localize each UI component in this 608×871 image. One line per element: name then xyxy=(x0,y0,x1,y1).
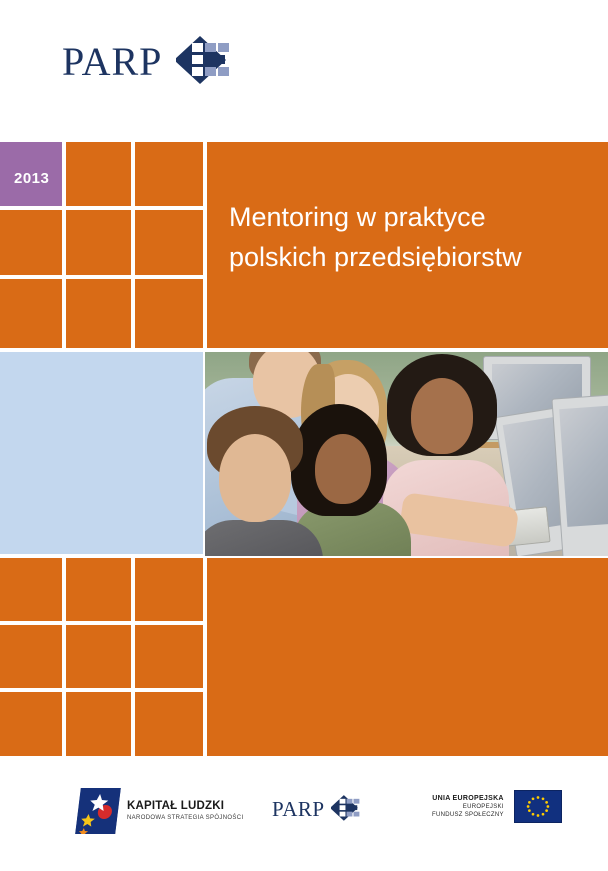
grid-cell xyxy=(135,142,203,206)
grid-cell xyxy=(135,692,203,756)
grid-cell xyxy=(0,692,62,756)
grid-cell xyxy=(66,625,131,688)
grid-cell xyxy=(66,210,131,275)
grid-cell xyxy=(135,558,203,621)
year-badge: 2013 xyxy=(0,142,62,206)
page-header: PARP xyxy=(0,0,608,136)
title-panel: Mentoring w praktyce polskich przedsiębi… xyxy=(207,142,608,348)
eu-line-2: EUROPEJSKI xyxy=(432,803,504,811)
eu-line-1: UNIA EUROPEJSKA xyxy=(432,794,504,803)
grid-block-bottom-left xyxy=(0,558,203,756)
eu-line-3: FUNDUSZ SPOŁECZNY xyxy=(432,811,504,819)
grid-cell xyxy=(135,210,203,275)
eu-text-block: UNIA EUROPEJSKA EUROPEJSKI FUNDUSZ SPOŁE… xyxy=(432,794,504,820)
parp-diamond-icon xyxy=(176,34,232,90)
grid-cell xyxy=(0,625,62,688)
kapital-ludzki-title: KAPITAŁ LUDZKI xyxy=(127,800,243,813)
eu-flag-icon xyxy=(514,790,562,823)
cover-photo xyxy=(205,352,608,556)
page-title-line-2: polskich przedsiębiorstw xyxy=(229,238,599,278)
page-title: Mentoring w praktyce polskich przedsiębi… xyxy=(229,198,599,278)
photo-scene xyxy=(205,352,608,556)
year-badge-label: 2013 xyxy=(14,170,49,187)
bottom-orange-panel xyxy=(207,558,608,756)
accent-block-blue xyxy=(0,352,203,554)
grid-cell xyxy=(66,279,131,348)
grid-cell xyxy=(0,210,62,275)
kapital-ludzki-text: KAPITAŁ LUDZKI NARODOWA STRATEGIA SPÓJNO… xyxy=(127,800,243,822)
parp-wordmark: PARP xyxy=(62,42,162,82)
grid-block-top-left: 2013 xyxy=(0,142,203,348)
logo-unia-europejska: UNIA EUROPEJSKA EUROPEJSKI FUNDUSZ SPOŁE… xyxy=(432,790,562,823)
parp-diamond-icon xyxy=(331,794,361,824)
kapital-ludzki-stars-icon xyxy=(75,788,121,834)
cover-band: 2013 Mentoring w praktyce polskich przed… xyxy=(0,136,608,762)
grid-cell xyxy=(135,279,203,348)
parp-wordmark-footer: PARP xyxy=(272,799,325,820)
grid-cell xyxy=(66,692,131,756)
kapital-ludzki-subtitle: NARODOWA STRATEGIA SPÓJNOŚCI xyxy=(127,815,243,822)
parp-logo: PARP xyxy=(62,34,232,90)
grid-cell xyxy=(0,558,62,621)
grid-cell xyxy=(0,279,62,348)
grid-cell xyxy=(66,558,131,621)
grid-cell xyxy=(135,625,203,688)
photo-monitor-front-right xyxy=(551,394,608,556)
logo-kapital-ludzki: KAPITAŁ LUDZKI NARODOWA STRATEGIA SPÓJNO… xyxy=(78,788,243,834)
grid-cell xyxy=(66,142,131,206)
page-footer: KAPITAŁ LUDZKI NARODOWA STRATEGIA SPÓJNO… xyxy=(0,762,608,871)
logo-parp-footer: PARP xyxy=(272,794,361,824)
page-title-line-1: Mentoring w praktyce xyxy=(229,198,599,238)
